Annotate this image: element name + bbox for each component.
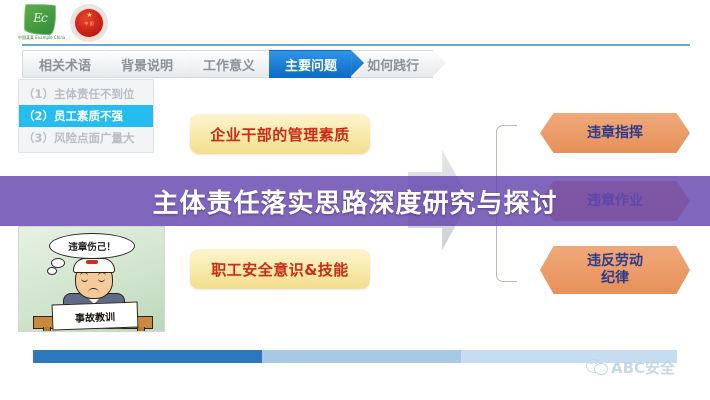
character-mouth [88,288,99,293]
desk-leg-right [137,327,145,332]
sidebar-item-2-active[interactable]: （2）员工素质不强 [19,105,153,127]
watermark: ABC安全 [586,356,675,378]
topic-box-safety-awareness: 职工安全意识&技能 [190,249,370,289]
sidebar-list: （1）主体责任不到位 （2）员工素质不强 （3）风险点面广量大 [18,79,154,153]
paper-document: 事故教训 [52,302,139,331]
emblem-label: 中 国 [70,21,108,26]
breadcrumb-item-5[interactable]: 如何践行 [351,50,433,78]
character-brow-left [80,272,88,276]
desk-leg-left [43,327,51,332]
character-brow-right [98,272,106,276]
footer-segment-1 [33,350,262,363]
header-divider [22,44,690,46]
national-emblem-logo: ★ 中 国 [70,4,108,42]
wechat-icon [586,359,607,375]
star-icon: ★ [86,12,91,19]
breadcrumb-item-3[interactable]: 工作意义 [187,50,269,78]
breadcrumb-item-2[interactable]: 背景说明 [105,50,187,78]
breadcrumb-item-1[interactable]: 相关术语 [22,50,105,78]
topic-box-management-quality: 企业干部的管理素质 [190,114,370,154]
speech-bubble: 违章伤己！ [49,233,135,259]
watermark-text: ABC安全 [611,357,675,378]
breadcrumb-item-4-active[interactable]: 主要问题 [269,50,351,78]
slide-canvas: Ec 中国某某 Example China ★ 中 国 相关术语 背景说明 工作… [0,0,710,400]
speech-bubble-dot-small [47,267,57,275]
breadcrumb: 相关术语 背景说明 工作意义 主要问题 如何践行 [22,50,433,76]
bandage-blood-mark [86,260,98,264]
footer-segment-2 [262,350,461,363]
sidebar-item-1[interactable]: （1）主体责任不到位 [19,83,153,105]
tag-labor-discipline-violation: 违反劳动 纪律 [540,246,690,294]
footer-progress-bar [33,350,677,363]
leaf-monogram: Ec [30,10,50,27]
sidebar-item-3[interactable]: （3）风险点面广量大 [19,127,153,149]
leaf-logo-caption: 中国某某 Example China [18,35,62,40]
cartoon-illustration: 违章伤己！ 事故教训 [18,226,165,332]
title-banner: 主体责任落实思路深度研究与探讨 [0,176,710,226]
banner-title-text: 主体责任落实思路深度研究与探讨 [152,183,557,220]
tag-illegal-command: 违章指挥 [540,113,690,153]
green-leaf-logo: Ec 中国某某 Example China [18,4,62,44]
